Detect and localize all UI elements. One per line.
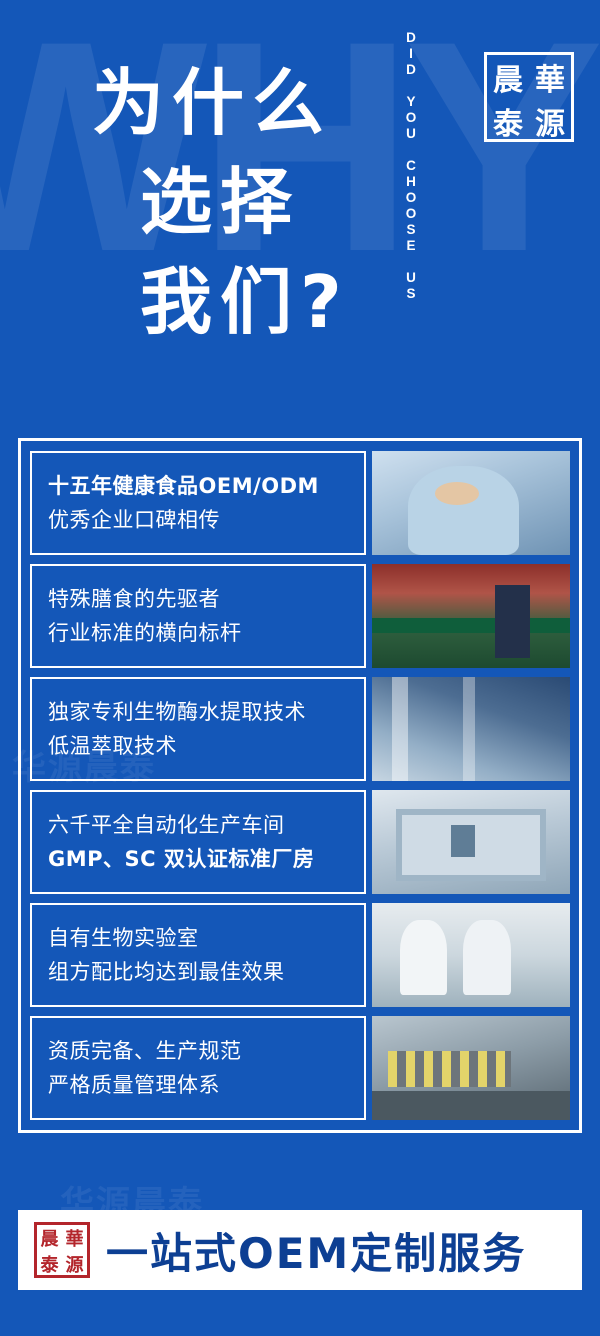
reason-4-line2: GMP、SC 双认证标准厂房 xyxy=(48,842,364,876)
list-item: 自有生物实验室 组方配比均达到最佳效果 xyxy=(30,903,570,1007)
list-item: 六千平全自动化生产车间 GMP、SC 双认证标准厂房 xyxy=(30,790,570,894)
lab-technician-photo xyxy=(372,451,570,555)
reason-text-5: 自有生物实验室 组方配比均达到最佳效果 xyxy=(30,903,366,1007)
reason-6-line1: 资质完备、生产规范 xyxy=(48,1034,364,1068)
two-researchers-photo xyxy=(372,903,570,1007)
reason-1-line1: 十五年健康食品OEM/ODM xyxy=(48,469,364,503)
reason-2-line2: 行业标准的横向标杆 xyxy=(48,616,364,650)
reason-text-2: 特殊膳食的先驱者 行业标准的横向标杆 xyxy=(30,564,366,668)
blister-packaging-photo xyxy=(372,1016,570,1120)
logo-char-top-left: 晨 xyxy=(487,55,529,99)
filling-line-photo xyxy=(372,677,570,781)
reason-text-6: 资质完备、生产规范 严格质量管理体系 xyxy=(30,1016,366,1120)
logo-char-bottom-right: 源 xyxy=(529,99,571,143)
page-title-line1: 为什么 xyxy=(92,54,350,153)
page-title-line3: 我们? xyxy=(140,253,350,352)
reason-2-line1: 特殊膳食的先驱者 xyxy=(48,582,364,616)
logo-char-bottom-left: 泰 xyxy=(487,99,529,143)
vertical-english-subtitle: DID YOU CHOOSE US xyxy=(404,30,430,400)
conference-audience-photo xyxy=(372,564,570,668)
reason-5-line1: 自有生物实验室 xyxy=(48,921,364,955)
reason-text-3: 独家专利生物酶水提取技术 低温萃取技术 xyxy=(30,677,366,781)
reason-4-line1: 六千平全自动化生产车间 xyxy=(48,808,364,842)
reason-3-line1: 独家专利生物酶水提取技术 xyxy=(48,695,364,729)
reasons-panel: 十五年健康食品OEM/ODM 优秀企业口碑相传 特殊膳食的先驱者 行业标准的横向… xyxy=(18,438,582,1133)
footer-logo-char-top-right: 華 xyxy=(62,1225,87,1251)
reason-6-line2: 严格质量管理体系 xyxy=(48,1068,364,1102)
reason-text-4: 六千平全自动化生产车间 GMP、SC 双认证标准厂房 xyxy=(30,790,366,894)
page-title-line2: 选择 xyxy=(140,153,350,252)
reason-5-line2: 组方配比均达到最佳效果 xyxy=(48,955,364,989)
footer-banner: 晨 華 泰 源 一站式OEM定制服务 xyxy=(18,1210,582,1290)
list-item: 独家专利生物酶水提取技术 低温萃取技术 xyxy=(30,677,570,781)
list-item: 资质完备、生产规范 严格质量管理体系 xyxy=(30,1016,570,1120)
page-title: 为什么 选择 我们? xyxy=(92,54,350,352)
list-item: 特殊膳食的先驱者 行业标准的横向标杆 xyxy=(30,564,570,668)
reason-text-1: 十五年健康食品OEM/ODM 优秀企业口碑相传 xyxy=(30,451,366,555)
footer-logo-char-top-left: 晨 xyxy=(37,1225,62,1251)
reason-3-line2: 低温萃取技术 xyxy=(48,729,364,763)
footer-logo-seal: 晨 華 泰 源 xyxy=(34,1222,90,1278)
footer-logo-char-bottom-right: 源 xyxy=(62,1251,87,1277)
cleanroom-workshop-photo xyxy=(372,790,570,894)
footer-slogan: 一站式OEM定制服务 xyxy=(106,1220,526,1281)
logo-char-top-right: 華 xyxy=(529,55,571,99)
company-logo-seal: 晨 華 泰 源 xyxy=(484,52,574,142)
header-section: 为什么 选择 我们? DID YOU CHOOSE US 晨 華 泰 源 xyxy=(0,0,600,430)
reason-1-line2: 优秀企业口碑相传 xyxy=(48,503,364,537)
list-item: 十五年健康食品OEM/ODM 优秀企业口碑相传 xyxy=(30,451,570,555)
footer-logo-char-bottom-left: 泰 xyxy=(37,1251,62,1277)
